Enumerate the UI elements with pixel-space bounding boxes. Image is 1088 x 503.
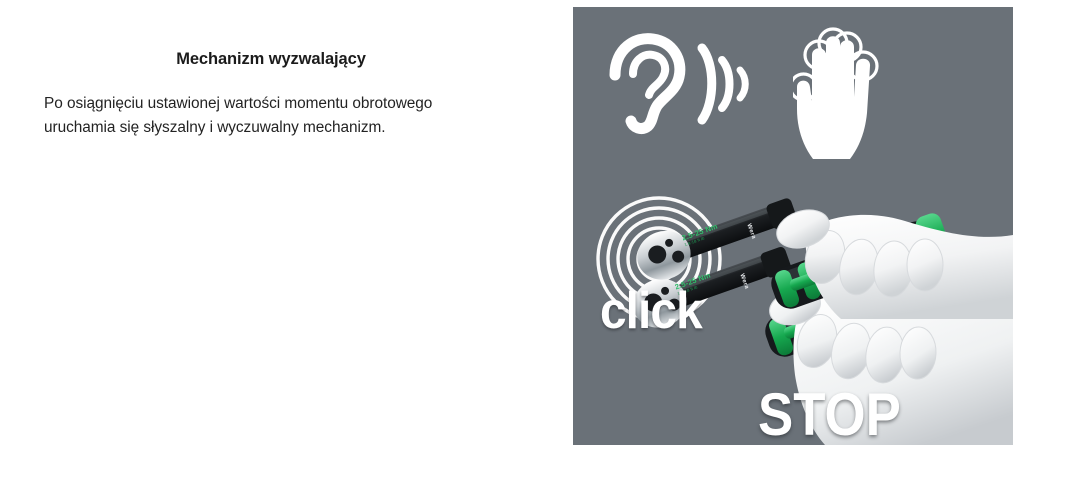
hand-upper [806, 215, 1013, 319]
page-title: Mechanizm wyzwalający [44, 50, 514, 70]
article-body-line-2: uruchamia się słyszalny i wyczuwalny mec… [44, 116, 514, 140]
illustration-stage: 2.5-25 Nm 1.8-18 ft lb 2.5-25 Nm 1.8-18 … [573, 7, 1013, 445]
ear-icon [601, 27, 693, 137]
brand-label-lower: Wera [738, 273, 749, 290]
article-body: Po osiągnięciu ustawionej wartości momen… [44, 92, 514, 141]
click-caption: click [600, 285, 702, 337]
illustration-panel: 2.5-25 Nm 1.8-18 ft lb 2.5-25 Nm 1.8-18 … [573, 7, 1013, 445]
sound-waves-icon [693, 40, 755, 128]
brand-label-upper: Wera [745, 223, 756, 240]
article-body-line-1: Po osiągnięciu ustawionej wartości momen… [44, 92, 514, 116]
article-text-column: Mechanizm wyzwalający Po osiągnięciu ust… [44, 50, 514, 140]
hand-with-fingertip-circles-icon [793, 21, 903, 161]
stop-caption: STOP [758, 385, 901, 445]
